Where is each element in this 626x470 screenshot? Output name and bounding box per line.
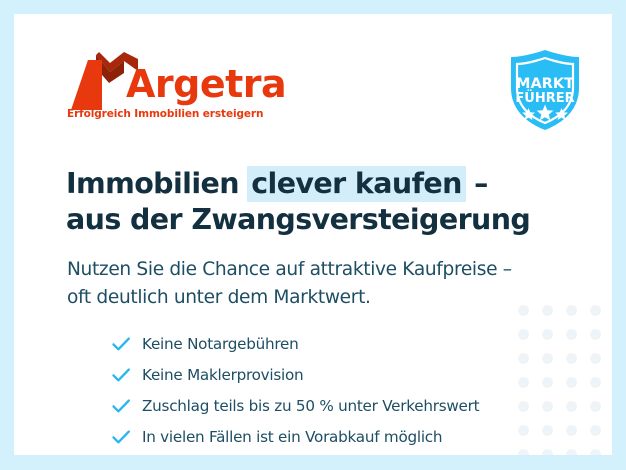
logo-tagline: Erfolgreich Immobilien ersteigern (67, 108, 263, 120)
argetra-logo[interactable]: Argetra Erfolgreich Immobilien ersteiger… (66, 52, 256, 126)
badge-line1: MARKT (516, 76, 574, 92)
benefit-label: In vielen Fällen ist ein Vorabkauf mögli… (142, 428, 442, 446)
decorative-dot (590, 377, 601, 388)
promo-card: Argetra Erfolgreich Immobilien ersteiger… (14, 14, 612, 455)
decorative-dot (566, 305, 577, 316)
headline-line1-pre: Immobilien (66, 167, 248, 200)
decorative-dot (590, 329, 601, 340)
decorative-dot (590, 401, 601, 412)
headline-line1-post: – (465, 167, 488, 200)
subtitle-line2: oft deutlich unter dem Marktwert. (67, 284, 547, 312)
check-icon (110, 426, 132, 448)
page-title: Immobilien clever kaufen – aus der Zwang… (66, 166, 536, 238)
page-subtitle: Nutzen Sie die Chance auf attraktive Kau… (67, 256, 547, 313)
list-item: In vielen Fällen ist ein Vorabkauf mögli… (110, 421, 570, 452)
market-leader-badge: MARKT FÜHRER (503, 48, 587, 132)
logo-wordmark: Argetra (126, 65, 286, 103)
benefit-list: Keine NotargebührenKeine Maklerprovision… (70, 328, 570, 452)
badge-line2: FÜHRER (515, 90, 574, 106)
list-item: Zuschlag teils bis zu 50 % unter Verkehr… (110, 390, 570, 421)
benefit-label: Zuschlag teils bis zu 50 % unter Verkehr… (142, 397, 479, 415)
decorative-dot (590, 425, 601, 436)
decorative-dot (590, 449, 601, 455)
check-icon (110, 333, 132, 355)
benefit-label: Keine Maklerprovision (142, 366, 303, 384)
check-icon (110, 364, 132, 386)
subtitle-line1: Nutzen Sie die Chance auf attraktive Kau… (67, 256, 547, 284)
headline-line2: aus der Zwangsversteigerung (66, 202, 536, 238)
decorative-dot (590, 305, 601, 316)
page-frame: Argetra Erfolgreich Immobilien ersteiger… (0, 0, 626, 470)
list-item: Keine Notargebühren (110, 328, 570, 359)
decorative-dot (590, 353, 601, 364)
check-icon (110, 395, 132, 417)
headline-highlight: clever kaufen (247, 166, 466, 202)
benefit-label: Keine Notargebühren (142, 335, 298, 353)
list-item: Keine Maklerprovision (110, 359, 570, 390)
